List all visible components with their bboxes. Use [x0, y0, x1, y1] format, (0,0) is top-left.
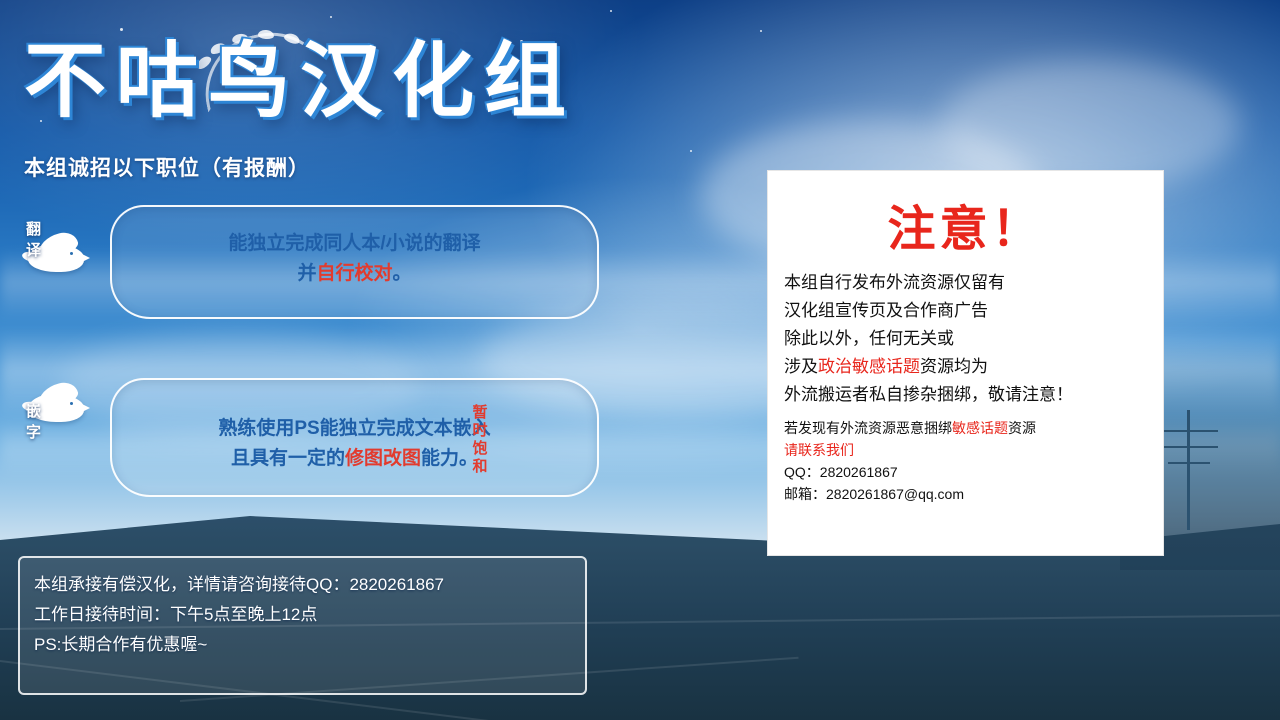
- role-bubble-typesetter: 熟练使用PS能独立完成文本嵌入 且具有一定的修图改图能力。: [110, 378, 599, 497]
- contact-us-text: 请联系我们: [768, 439, 1163, 461]
- bottom-line-3: PS:长期合作有优惠喔~: [20, 630, 585, 660]
- star-icon: [760, 30, 762, 32]
- star-icon: [610, 10, 612, 12]
- notice-small-suffix: 资源: [1008, 420, 1036, 436]
- notice-line-4-suffix: 资源均为: [920, 357, 988, 376]
- antenna-arm: [1160, 430, 1218, 432]
- notice-small-highlight: 敏感话题: [952, 420, 1008, 436]
- antenna-arm: [1160, 446, 1218, 448]
- poster-canvas: 不咕鸟汉化组 本组诚招以下职位（有报酬） 翻译 能独立完成同人本/小说的翻译 并…: [0, 0, 1280, 720]
- role-line-2-prefix: 并: [297, 263, 316, 284]
- role-line-2-highlight: 自行校对: [316, 263, 392, 284]
- role-line-2-suffix: 。: [393, 263, 412, 284]
- role-line-2: 并自行校对。: [112, 259, 597, 289]
- notice-line-3: 除此以外，任何无关或: [768, 325, 1163, 353]
- notice-line-4-highlight: 政治敏感话题: [818, 357, 920, 376]
- notice-panel: 注意！ 本组自行发布外流资源仅留有 汉化组宣传页及合作商广告 除此以外，任何无关…: [767, 170, 1164, 556]
- notice-small-line: 若发现有外流资源恶意捆绑敏感话题资源: [768, 417, 1163, 439]
- role-label-typesetter: 嵌字: [26, 400, 43, 442]
- role-line-2-highlight: 修图改图: [345, 448, 421, 469]
- status-badge-saturated: 暂时饱和: [472, 404, 488, 476]
- notice-small-prefix: 若发现有外流资源恶意捆绑: [784, 420, 952, 436]
- star-icon: [690, 150, 692, 152]
- bottom-line-1: 本组承接有偿汉化，详情请咨询接待QQ：2820261867: [20, 558, 585, 600]
- role-line-2-suffix: 能力。: [421, 448, 478, 469]
- recruit-heading: 本组诚招以下职位（有报酬）: [24, 152, 310, 182]
- role-line-1: 熟练使用PS能独立完成文本嵌入: [112, 414, 597, 444]
- group-title: 不咕鸟汉化组: [24, 14, 576, 133]
- antenna-pole: [1187, 410, 1190, 530]
- role-label-translator: 翻译: [26, 218, 43, 260]
- role-bubble-translator: 能独立完成同人本/小说的翻译 并自行校对。: [110, 205, 599, 319]
- email-text: 邮箱：2820261867@qq.com: [768, 483, 1163, 505]
- notice-line-4-prefix: 涉及: [784, 357, 818, 376]
- role-line-1: 能独立完成同人本/小说的翻译: [112, 229, 597, 259]
- qq-text: QQ：2820261867: [768, 461, 1163, 483]
- notice-line-5: 外流搬运者私自掺杂捆绑，敬请注意！: [768, 381, 1163, 417]
- notice-line-4: 涉及政治敏感话题资源均为: [768, 353, 1163, 381]
- role-line-2: 且具有一定的修图改图能力。: [112, 444, 597, 474]
- bottom-line-2: 工作日接待时间：下午5点至晚上12点: [20, 600, 585, 630]
- role-line-2-prefix: 且具有一定的: [231, 448, 345, 469]
- notice-title: 注意！: [768, 171, 1163, 269]
- notice-line-2: 汉化组宣传页及合作商广告: [768, 297, 1163, 325]
- bottom-info-panel: 本组承接有偿汉化，详情请咨询接待QQ：2820261867 工作日接待时间：下午…: [18, 556, 587, 695]
- notice-line-1: 本组自行发布外流资源仅留有: [768, 269, 1163, 297]
- antenna-arm: [1168, 462, 1210, 464]
